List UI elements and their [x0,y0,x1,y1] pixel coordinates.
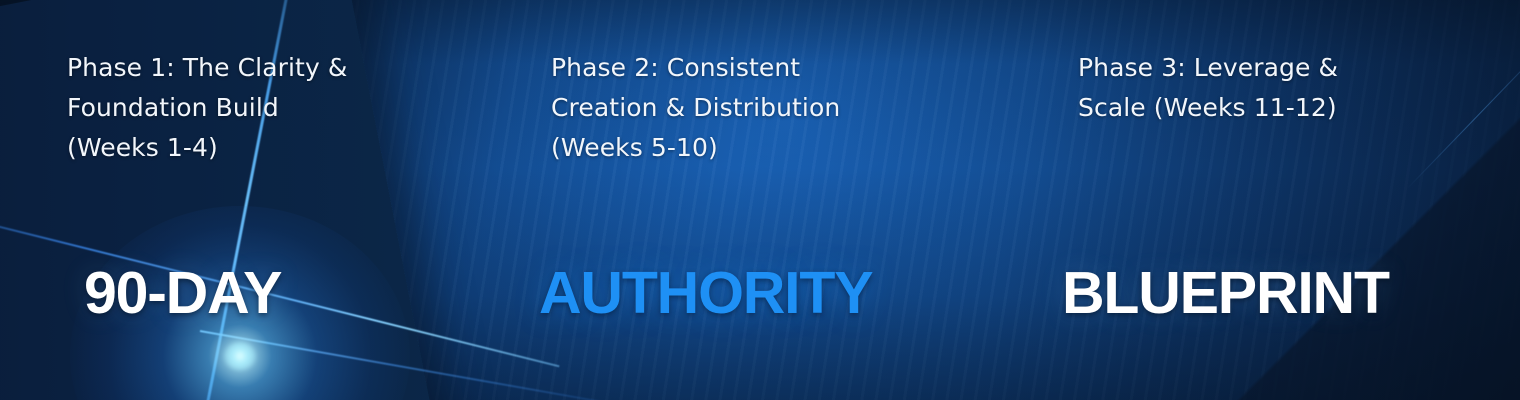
phase-1-text: Phase 1: The Clarity & Foundation Build … [67,48,467,168]
phase-2-text: Phase 2: Consistent Creation & Distribut… [551,48,951,168]
headline-word-90-day: 90-DAY [84,262,281,324]
headline-word-blueprint: BLUEPRINT [1062,262,1389,324]
phase-list: Phase 1: The Clarity & Foundation Build … [0,48,1520,188]
banner-slide: Phase 1: The Clarity & Foundation Build … [0,0,1520,400]
headline: 90-DAY AUTHORITY BLUEPRINT [0,262,1520,332]
phase-3-text: Phase 3: Leverage & Scale (Weeks 11-12) [1078,48,1478,128]
banner-content: Phase 1: The Clarity & Foundation Build … [0,0,1520,400]
headline-word-authority: AUTHORITY [539,262,872,324]
